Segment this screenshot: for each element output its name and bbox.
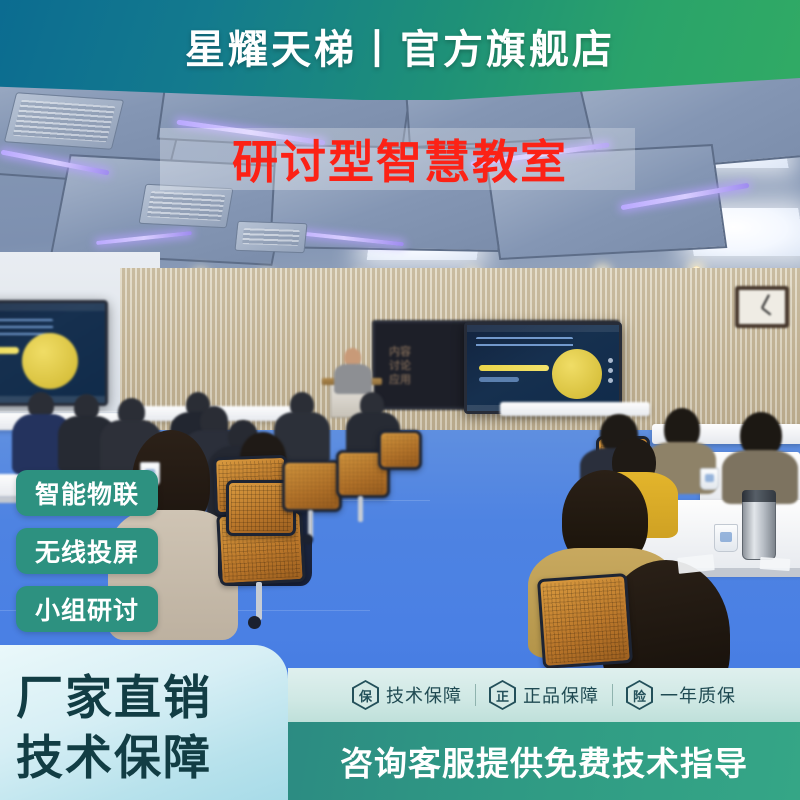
badge-divider: [475, 684, 476, 706]
paper-cup: [714, 524, 738, 552]
shop-header: 星耀天梯丨官方旗舰店: [0, 0, 800, 100]
left-display: [0, 300, 108, 406]
badge-label: 技术保障: [386, 682, 462, 708]
promo-panel: 厂家直销 技术保障: [0, 645, 288, 800]
thermos: [742, 498, 776, 560]
badge-genuine: 正 正品保障: [489, 680, 599, 710]
product-banner: 内容讨论应用: [0, 0, 800, 800]
main-display: [464, 322, 622, 414]
genuine-hex-icon: 正: [489, 680, 516, 710]
cta-banner[interactable]: 咨询客服提供免费技术指导: [288, 722, 800, 800]
badge-guarantee: 保 技术保障: [352, 680, 462, 710]
badge-warranty: 险 一年质保: [626, 680, 736, 710]
badge-label: 正品保障: [523, 682, 599, 708]
guarantee-hex-icon: 保: [352, 680, 379, 710]
warranty-hex-icon: 险: [626, 680, 653, 710]
feature-tag-list: 智能物联 无线投屏 小组研讨: [16, 470, 176, 644]
promo-line-2: 技术保障: [16, 719, 212, 788]
badge-divider: [612, 684, 613, 706]
feature-tag: 小组研讨: [16, 586, 158, 632]
promo-line-1: 厂家直销: [16, 659, 212, 728]
badge-label: 一年质保: [660, 682, 736, 708]
guarantee-badge-row: 保 技术保障 正 正品保障 险 一年质保: [288, 668, 800, 722]
shop-title: 星耀天梯丨官方旗舰店: [0, 0, 800, 92]
wall-clock: [735, 286, 789, 328]
page-title: 研讨型智慧教室: [160, 120, 640, 198]
feature-tag: 智能物联: [16, 470, 158, 516]
feature-tag: 无线投屏: [16, 528, 158, 574]
